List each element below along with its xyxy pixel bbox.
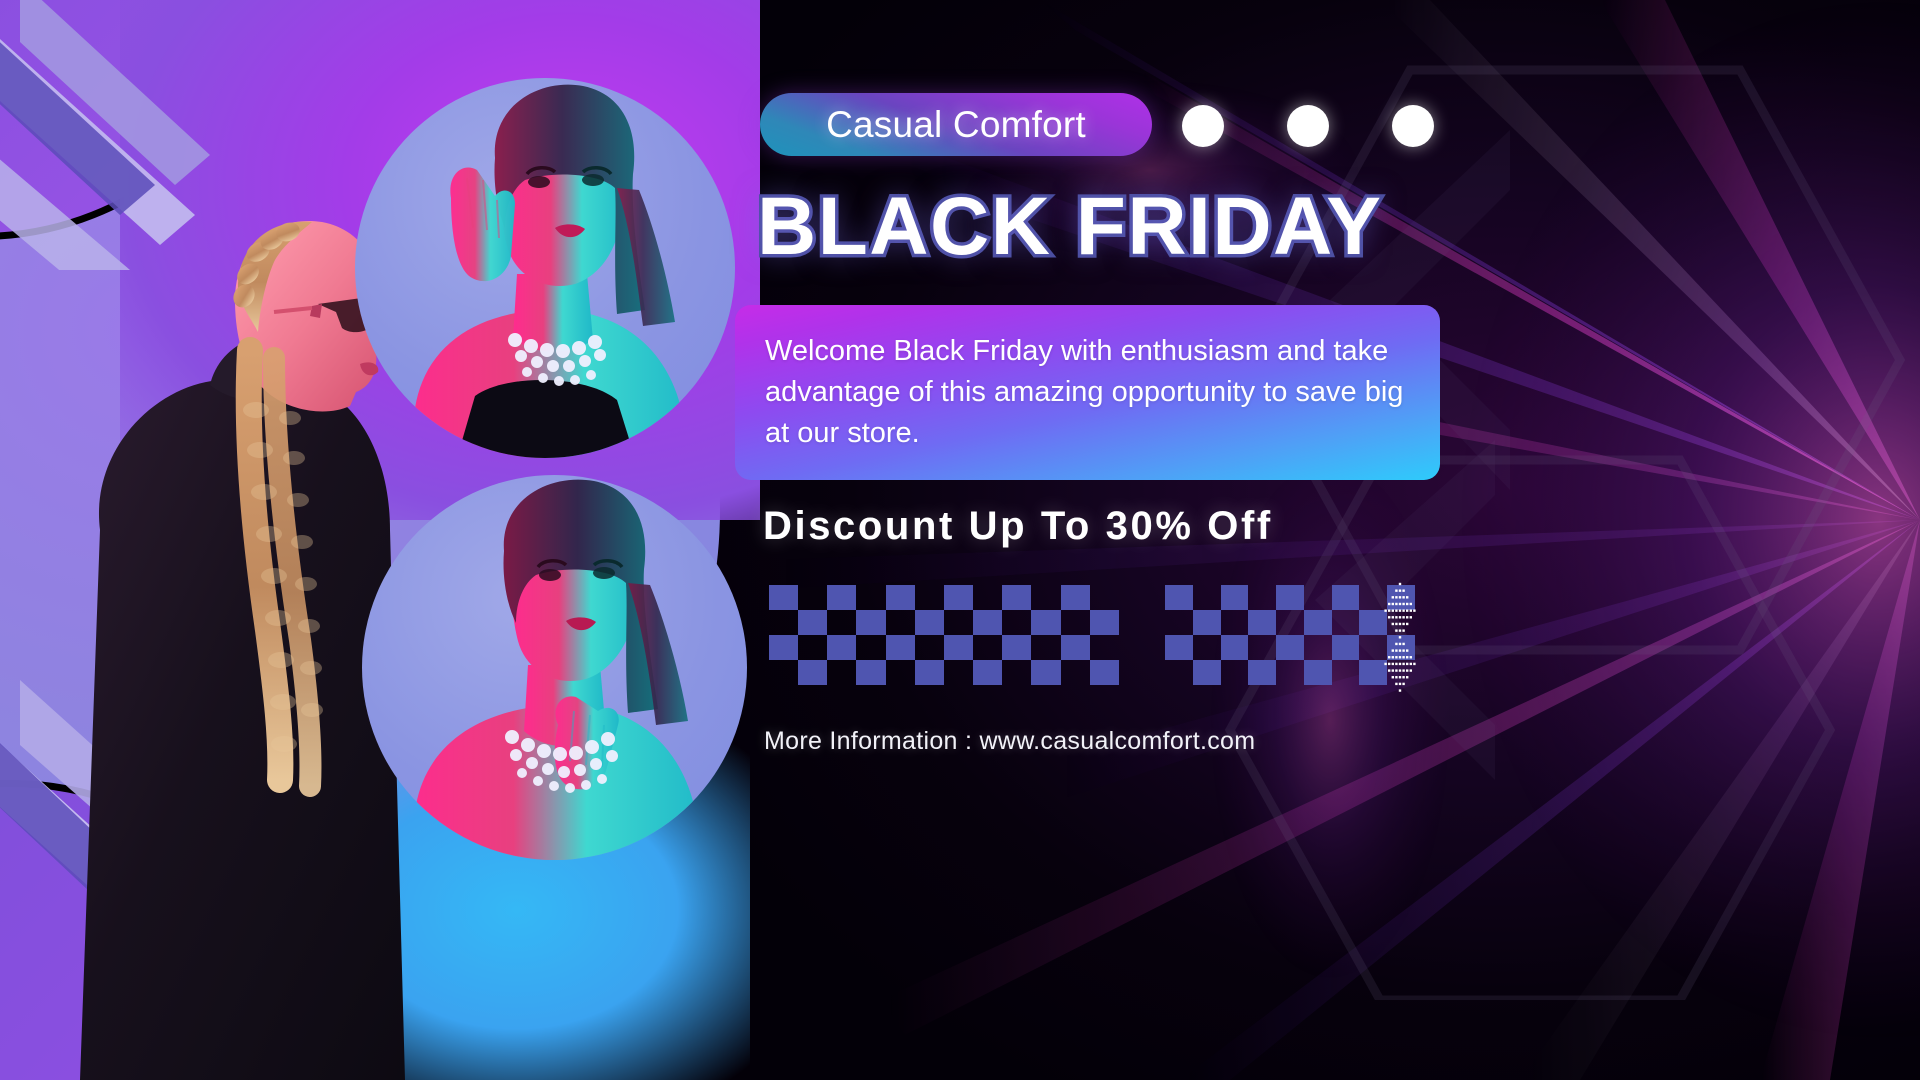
checker-cell — [915, 635, 944, 660]
checker-cell — [1165, 610, 1193, 635]
checker-cell — [886, 610, 915, 635]
checker-cell — [1165, 585, 1193, 610]
checker-cell — [886, 660, 915, 685]
checker-cell — [1304, 585, 1332, 610]
checker-cell — [886, 585, 915, 610]
dot-2 — [1287, 105, 1329, 147]
checker-cell — [1193, 610, 1221, 635]
checker-cell — [915, 660, 944, 685]
checker-cell — [1031, 610, 1060, 635]
checker-cell — [827, 635, 856, 660]
checker-cell — [1165, 660, 1193, 685]
checker-cell — [973, 660, 1002, 685]
checker-cell — [1332, 585, 1360, 610]
checker-cell — [1031, 585, 1060, 610]
checker-cell — [973, 635, 1002, 660]
checker-cell — [769, 585, 798, 610]
checker-cell — [973, 610, 1002, 635]
checker-cell — [1031, 660, 1060, 685]
checker-cell — [1061, 635, 1090, 660]
dot-3 — [1392, 105, 1434, 147]
model-portrait-bottom — [362, 475, 747, 860]
checker-cell — [1332, 635, 1360, 660]
checker-cell — [856, 635, 885, 660]
checker-cell — [856, 585, 885, 610]
checker-cell — [944, 585, 973, 610]
checker-cell — [1165, 635, 1193, 660]
checker-cell — [1061, 610, 1090, 635]
checker-cell — [1090, 610, 1119, 635]
promo-description-text: Welcome Black Friday with enthusiasm and… — [735, 331, 1440, 455]
checker-cell — [1221, 610, 1249, 635]
checker-cell — [1332, 610, 1360, 635]
checker-cell — [1248, 660, 1276, 685]
checker-cell — [915, 585, 944, 610]
checker-cell — [1304, 610, 1332, 635]
checker-cell — [1332, 660, 1360, 685]
checker-cell — [1090, 660, 1119, 685]
checker-cell — [1002, 635, 1031, 660]
footer-info: More Information : www.casualcomfort.com — [764, 727, 1255, 756]
promo-description-box: Welcome Black Friday with enthusiasm and… — [735, 305, 1440, 480]
checker-cell — [769, 610, 798, 635]
dot-1 — [1182, 105, 1224, 147]
checker-cell — [1221, 585, 1249, 610]
model-portrait-top — [355, 78, 735, 458]
checker-cell — [798, 660, 827, 685]
checker-cell — [1304, 660, 1332, 685]
portrait-circle-top — [355, 78, 735, 458]
checker-cell — [827, 660, 856, 685]
checker-cell — [1221, 635, 1249, 660]
checker-cell — [769, 660, 798, 685]
checker-cell — [1002, 585, 1031, 610]
checker-cell — [769, 635, 798, 660]
checker-cell — [1002, 660, 1031, 685]
checker-cell — [886, 635, 915, 660]
checker-cell — [1031, 635, 1060, 660]
checkerboard-decoration — [769, 585, 1415, 685]
brand-badge-label: Casual Comfort — [826, 104, 1086, 146]
checker-cell — [1221, 660, 1249, 685]
checker-cell — [1248, 610, 1276, 635]
checker-cell — [1193, 635, 1221, 660]
checker-cell — [1193, 660, 1221, 685]
checker-cell — [944, 660, 973, 685]
checker-cell — [827, 585, 856, 610]
checker-cell — [1090, 635, 1119, 660]
discount-headline: Discount Up To 30% Off — [763, 504, 1273, 549]
checker-cell — [1248, 635, 1276, 660]
decorative-dots-group — [1182, 105, 1434, 147]
checker-cell — [798, 585, 827, 610]
black-friday-banner: Casual Comfort BLACK FRIDAY Welcome Blac… — [0, 0, 1920, 1080]
checker-cell — [856, 660, 885, 685]
checker-cell — [1193, 585, 1221, 610]
checker-cell — [1061, 660, 1090, 685]
page-title: BLACK FRIDAY — [757, 186, 1457, 268]
checker-cell — [944, 635, 973, 660]
checker-cell — [944, 610, 973, 635]
checker-cell — [856, 610, 885, 635]
checker-cell — [973, 585, 1002, 610]
checker-cell — [1002, 610, 1031, 635]
brand-badge[interactable]: Casual Comfort — [760, 93, 1152, 156]
checker-cell — [798, 610, 827, 635]
checker-cell — [1248, 585, 1276, 610]
checker-cell — [1276, 585, 1304, 610]
checker-cell — [1090, 585, 1119, 610]
checker-cell — [1061, 585, 1090, 610]
checker-cell — [1276, 635, 1304, 660]
checker-cell — [1276, 660, 1304, 685]
diamond-dots-icon — [1366, 578, 1434, 693]
checker-cell — [798, 635, 827, 660]
checker-cell — [915, 610, 944, 635]
checker-cell — [1276, 610, 1304, 635]
checker-block-1 — [769, 585, 1119, 685]
portrait-circle-bottom — [362, 475, 747, 860]
checker-cell — [827, 610, 856, 635]
checker-cell — [1304, 635, 1332, 660]
